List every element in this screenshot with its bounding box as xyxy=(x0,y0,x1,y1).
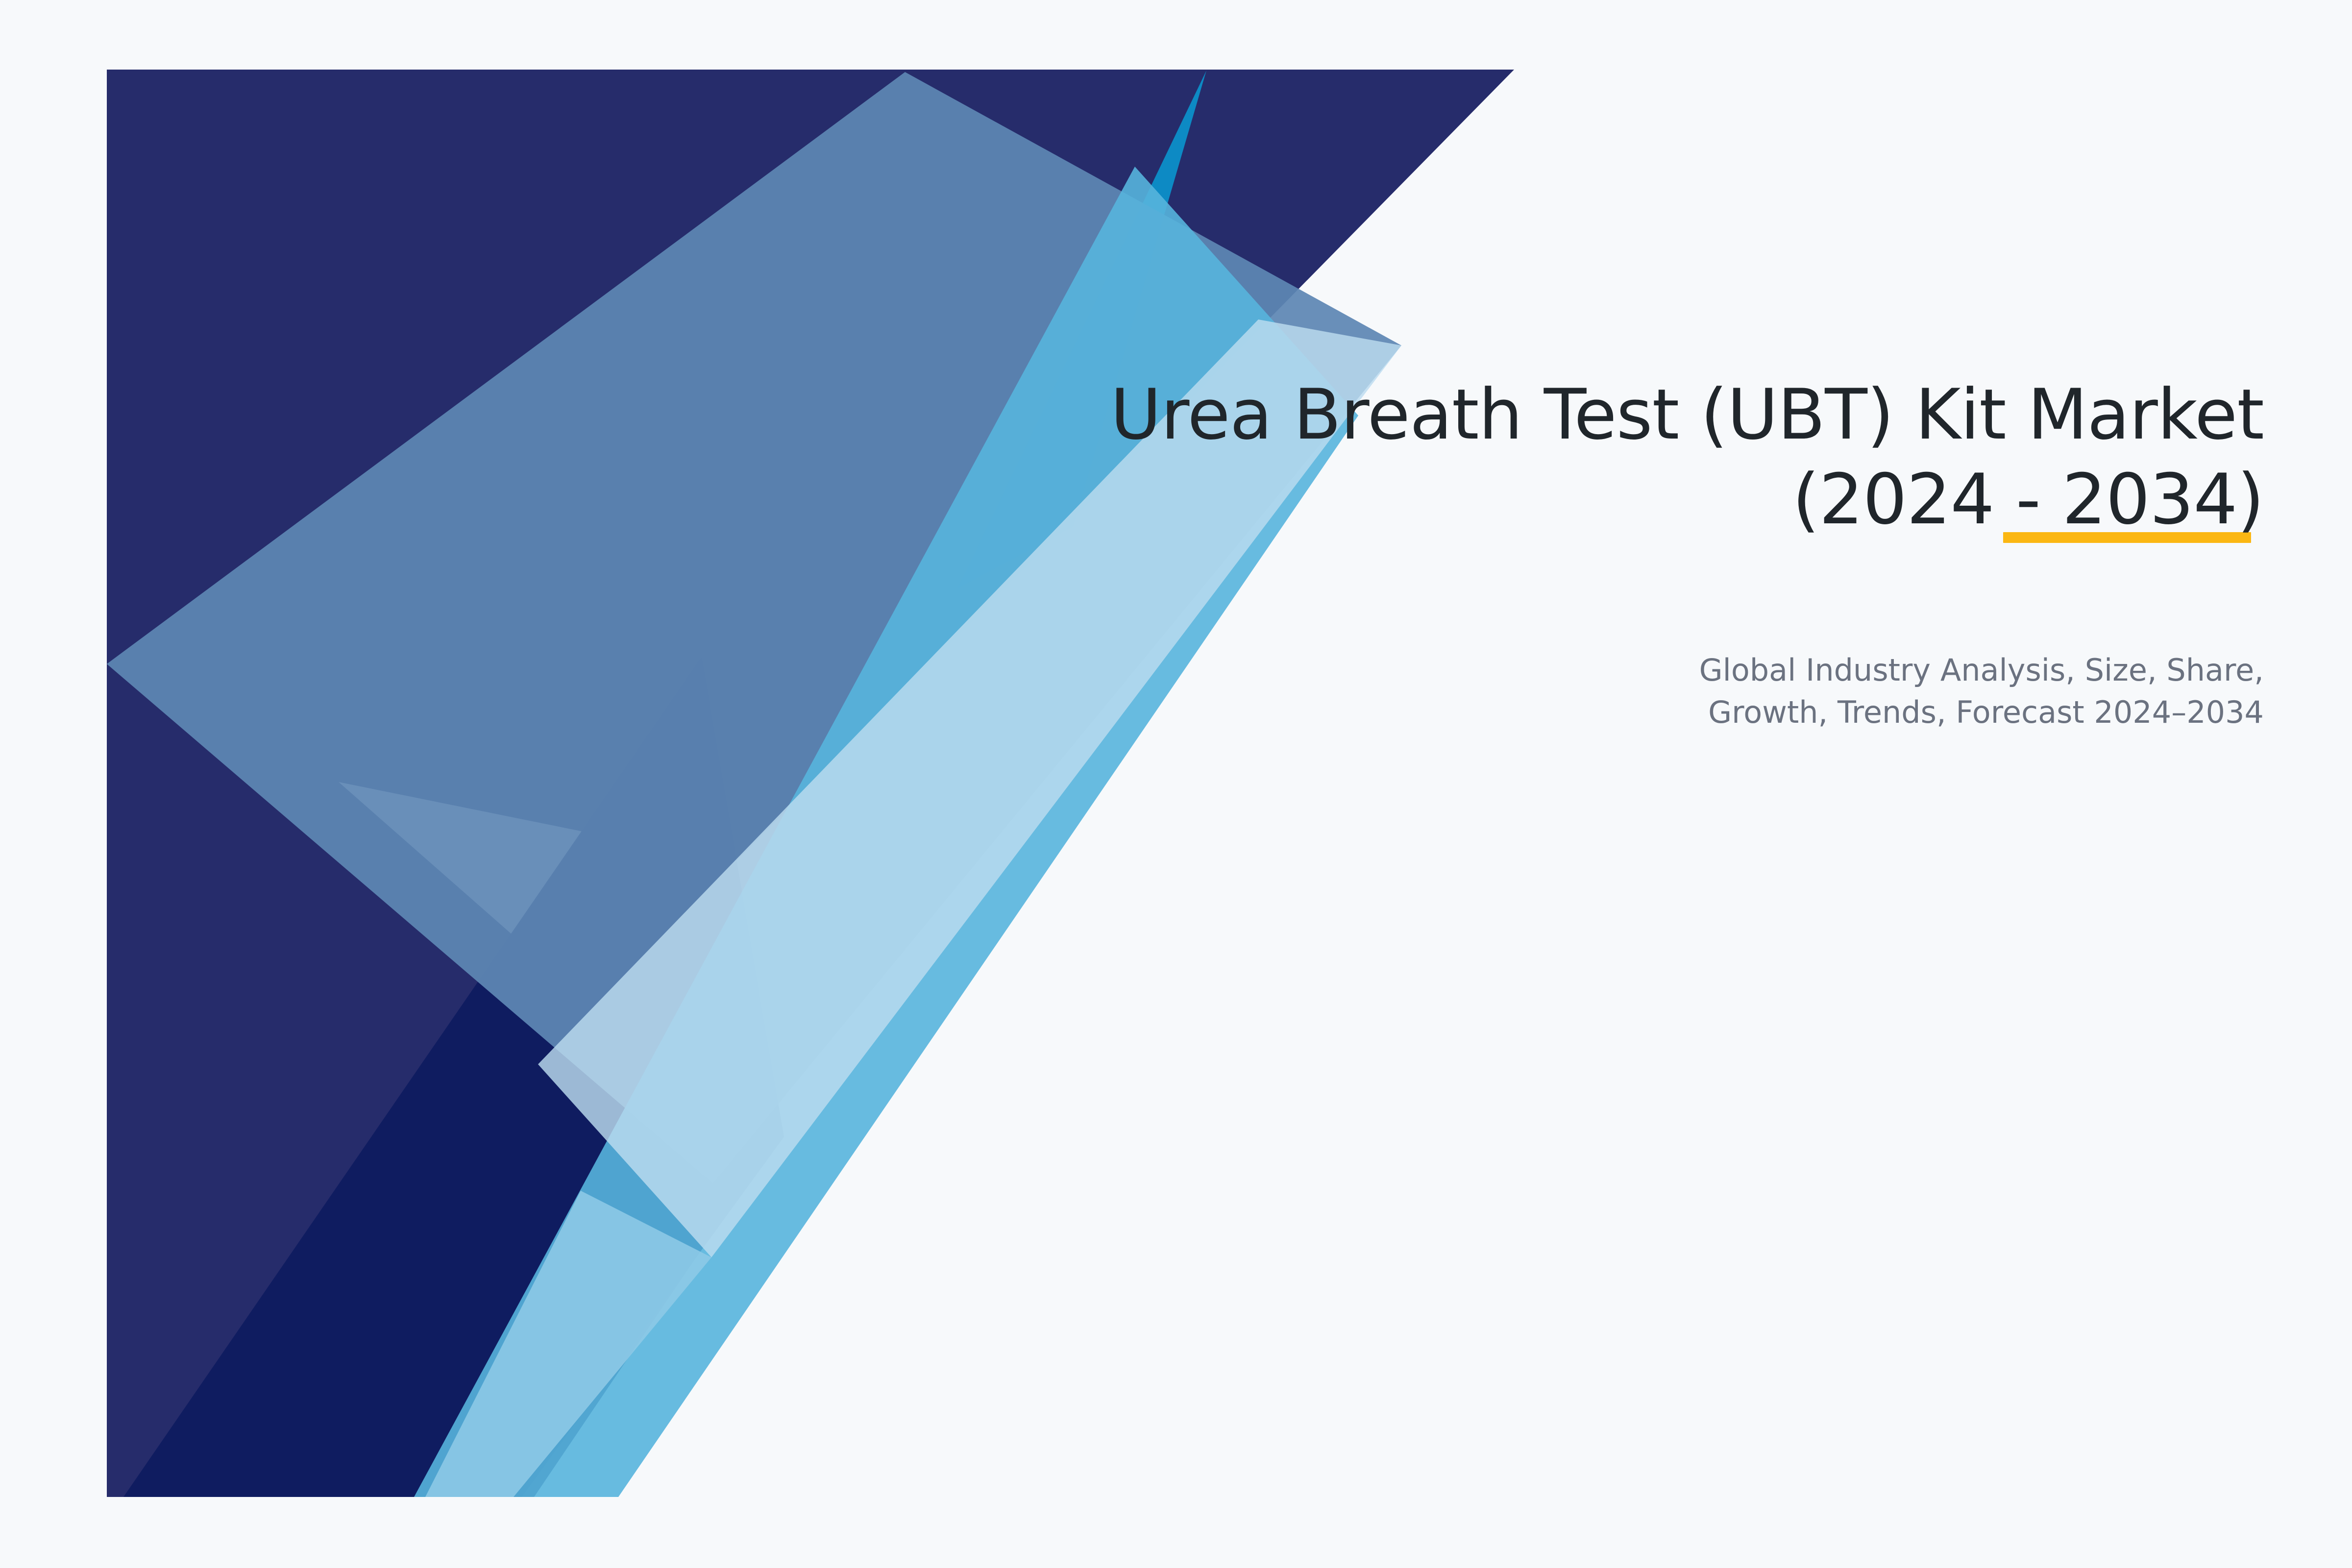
title-block: Urea Breath Test (UBT) Kit Market (2024 … xyxy=(931,372,2264,542)
report-cover: Urea Breath Test (UBT) Kit Market (2024 … xyxy=(0,0,2352,1568)
page-title: Urea Breath Test (UBT) Kit Market (2024 … xyxy=(931,372,2264,542)
page-subtitle: Global Industry Analysis, Size, Share, G… xyxy=(931,649,2264,733)
abstract-geometric-graphic xyxy=(0,0,2352,1568)
